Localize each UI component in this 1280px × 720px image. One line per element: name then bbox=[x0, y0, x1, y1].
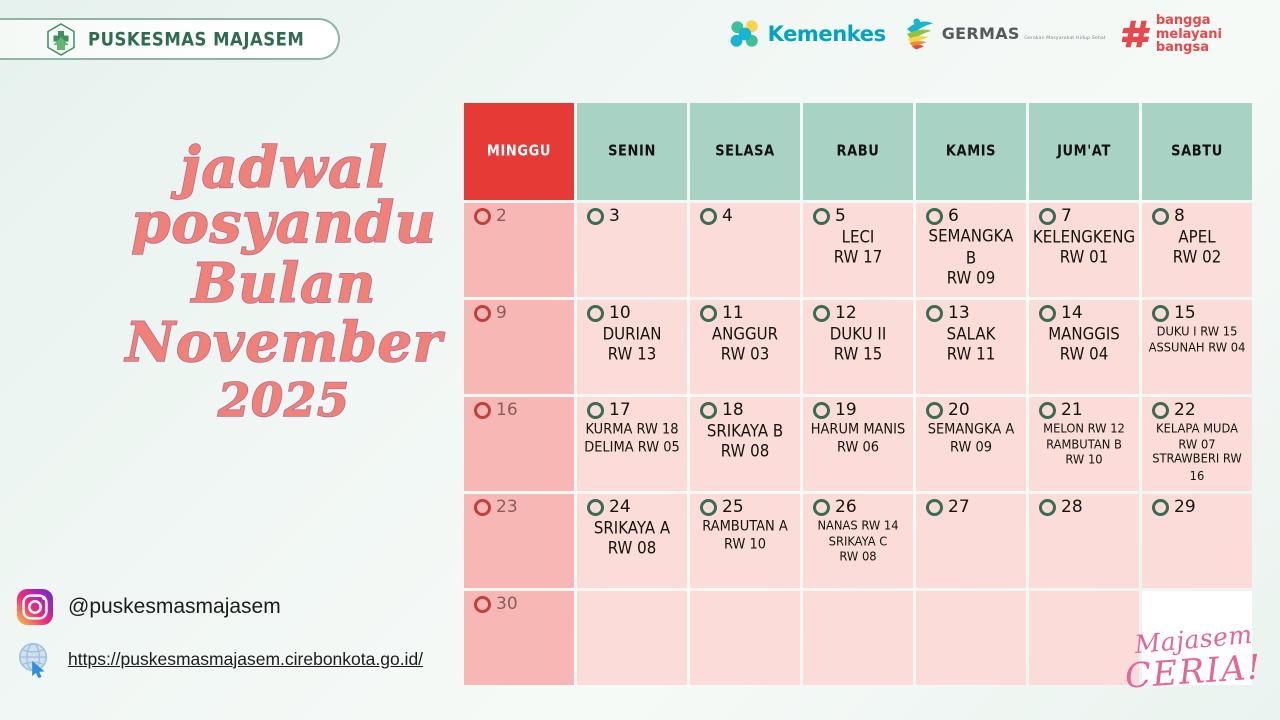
calendar-cell-day-20[interactable]: 20SEMANGKA ARW 09 bbox=[916, 397, 1026, 491]
circle-marker-icon bbox=[813, 305, 830, 322]
circle-marker-icon bbox=[587, 208, 604, 225]
circle-marker-icon bbox=[926, 402, 943, 419]
circle-marker-icon bbox=[700, 208, 717, 225]
day-number: 25 bbox=[722, 499, 744, 516]
day-number-row: 8 bbox=[1152, 208, 1185, 225]
header-brand-bar: PUSKESMAS MAJASEM bbox=[0, 18, 340, 60]
day-number-row: 4 bbox=[700, 208, 733, 225]
calendar-cell-day-28[interactable]: 28 bbox=[1029, 494, 1139, 588]
day-number: 18 bbox=[722, 402, 744, 419]
title-line-2: posyandu bbox=[104, 194, 464, 253]
day-header-kamis: KAMIS bbox=[916, 103, 1026, 200]
event-text: SALAK bbox=[947, 323, 996, 345]
day-number: 9 bbox=[496, 305, 507, 322]
day-header-label: MINGGU bbox=[487, 143, 551, 161]
day-number-row: 11 bbox=[700, 305, 744, 322]
event-text: MELON RW 12 bbox=[1043, 420, 1125, 437]
event-text: RAMBUTAN A bbox=[702, 517, 788, 536]
day-number: 22 bbox=[1174, 402, 1196, 419]
day-number-row: 30 bbox=[474, 596, 518, 613]
calendar-cell-day-7[interactable]: 7KELENGKENGRW 01 bbox=[1029, 203, 1139, 297]
event-text: DUKU I RW 15 bbox=[1157, 323, 1238, 340]
event-text: SRIKAYA B bbox=[707, 420, 783, 442]
calendar-cell-empty[interactable] bbox=[1142, 591, 1252, 685]
event-text: RW 08 bbox=[839, 548, 876, 565]
day-number-row: 17 bbox=[587, 402, 631, 419]
day-number: 23 bbox=[496, 499, 518, 516]
calendar-cell-day-30[interactable]: 30 bbox=[464, 591, 574, 685]
event-text: KELENGKENG bbox=[1033, 226, 1135, 248]
day-number: 3 bbox=[609, 208, 620, 225]
circle-marker-icon bbox=[813, 499, 830, 516]
day-number: 8 bbox=[1174, 208, 1185, 225]
circle-marker-icon bbox=[926, 208, 943, 225]
calendar-cell-day-11[interactable]: 11ANGGURRW 03 bbox=[690, 300, 800, 394]
day-number-row: 26 bbox=[813, 499, 857, 516]
day-number: 11 bbox=[722, 305, 744, 322]
calendar-cell-empty[interactable] bbox=[577, 591, 687, 685]
calendar-cell-day-9[interactable]: 9 bbox=[464, 300, 574, 394]
day-number-row: 7 bbox=[1039, 208, 1072, 225]
day-header-jumat: JUM'AT bbox=[1029, 103, 1139, 200]
event-text: DURIAN bbox=[603, 323, 662, 345]
calendar-cell-day-19[interactable]: 19HARUM MANISRW 06 bbox=[803, 397, 913, 491]
day-number-row: 9 bbox=[474, 305, 507, 322]
calendar-cell-day-22[interactable]: 22KELAPA MUDARW 07STRAWBERI RW 16 bbox=[1142, 397, 1252, 491]
day-number-row: 24 bbox=[587, 499, 631, 516]
event-text: RW 10 bbox=[724, 535, 766, 554]
calendar-cell-day-5[interactable]: 5LECIRW 17 bbox=[803, 203, 913, 297]
kemenkes-wordmark: Kemenkes bbox=[768, 22, 886, 46]
event-text: SEMANGKA B bbox=[922, 225, 1020, 270]
event-text: RW 08 bbox=[721, 440, 770, 462]
day-number: 17 bbox=[609, 402, 631, 419]
circle-marker-icon bbox=[474, 305, 491, 322]
event-text: RW 08 bbox=[608, 537, 657, 559]
calendar-cell-day-4[interactable]: 4 bbox=[690, 203, 800, 297]
germas-wordmark: GERMAS bbox=[942, 24, 1020, 43]
circle-marker-icon bbox=[474, 596, 491, 613]
event-text: APEL bbox=[1178, 226, 1215, 248]
partner-logos: Kemenkes GERMAS Gerakan Masyarakat Hidup… bbox=[728, 14, 1222, 55]
bangga-line-3: bangsa bbox=[1156, 41, 1222, 55]
event-text: RW 06 bbox=[837, 438, 879, 457]
bangga-line-1: bangga bbox=[1156, 14, 1222, 28]
event-text: DUKU II bbox=[830, 323, 887, 345]
day-number: 7 bbox=[1061, 208, 1072, 225]
day-number: 26 bbox=[835, 499, 857, 516]
day-number-row: 25 bbox=[700, 499, 744, 516]
day-header-selasa: SELASA bbox=[690, 103, 800, 200]
day-number: 20 bbox=[948, 402, 970, 419]
footer-contacts: @puskesmasmajasem https://puskesmasmajas… bbox=[16, 588, 466, 692]
calendar-cell-day-15[interactable]: 15DUKU I RW 15ASSUNAH RW 04 bbox=[1142, 300, 1252, 394]
page-title: jadwal posyandu Bulan November 2025 bbox=[104, 140, 464, 426]
calendar-cell-day-8[interactable]: 8APELRW 02 bbox=[1142, 203, 1252, 297]
circle-marker-icon bbox=[1152, 208, 1169, 225]
day-number-row: 2 bbox=[474, 208, 507, 225]
calendar-cell-day-29[interactable]: 29 bbox=[1142, 494, 1252, 588]
brand-label: PUSKESMAS MAJASEM bbox=[88, 28, 304, 49]
event-text: RW 15 bbox=[834, 343, 883, 365]
circle-marker-icon bbox=[1152, 402, 1169, 419]
circle-marker-icon bbox=[474, 208, 491, 225]
day-header-label: KAMIS bbox=[946, 143, 996, 161]
event-text: RW 10 bbox=[1065, 451, 1102, 468]
day-header-label: SENIN bbox=[608, 143, 656, 161]
day-number: 10 bbox=[609, 305, 631, 322]
circle-marker-icon bbox=[474, 499, 491, 516]
day-number-row: 19 bbox=[813, 402, 857, 419]
event-text: RW 02 bbox=[1173, 246, 1222, 268]
calendar-cell-day-25[interactable]: 25RAMBUTAN ARW 10 bbox=[690, 494, 800, 588]
event-text: SEMANGKA A bbox=[928, 420, 1015, 439]
circle-marker-icon bbox=[700, 305, 717, 322]
calendar-cell-empty[interactable] bbox=[916, 591, 1026, 685]
day-number-row: 10 bbox=[587, 305, 631, 322]
hexagon-medical-cross-icon bbox=[46, 23, 76, 56]
day-number-row: 21 bbox=[1039, 402, 1083, 419]
event-text: LECI bbox=[842, 226, 875, 248]
circle-marker-icon bbox=[587, 305, 604, 322]
circle-marker-icon bbox=[813, 208, 830, 225]
circle-marker-icon bbox=[926, 499, 943, 516]
bangga-melayani-bangsa-logo: bangga melayani bangsa bbox=[1122, 14, 1222, 55]
circle-marker-icon bbox=[1039, 208, 1056, 225]
event-text: RW 03 bbox=[721, 343, 770, 365]
event-text: STRAWBERI RW 16 bbox=[1148, 450, 1246, 484]
event-text: KELAPA MUDA bbox=[1156, 420, 1238, 437]
day-number-row: 15 bbox=[1152, 305, 1196, 322]
circle-marker-icon bbox=[813, 402, 830, 419]
calendar-cell-day-14[interactable]: 14MANGGISRW 04 bbox=[1029, 300, 1139, 394]
circle-marker-icon bbox=[1039, 402, 1056, 419]
day-number-row: 3 bbox=[587, 208, 620, 225]
day-number-row: 23 bbox=[474, 499, 518, 516]
day-header-sabtu: SABTU bbox=[1142, 103, 1252, 200]
calendar-cell-day-3[interactable]: 3 bbox=[577, 203, 687, 297]
day-number-row: 18 bbox=[700, 402, 744, 419]
calendar-cell-day-23[interactable]: 23 bbox=[464, 494, 574, 588]
day-number: 24 bbox=[609, 499, 631, 516]
calendar-cell-day-24[interactable]: 24SRIKAYA ARW 08 bbox=[577, 494, 687, 588]
day-number: 12 bbox=[835, 305, 857, 322]
day-number-row: 13 bbox=[926, 305, 970, 322]
day-number-row: 14 bbox=[1039, 305, 1083, 322]
title-line-4: November bbox=[104, 313, 464, 371]
event-text: SRIKAYA A bbox=[594, 517, 670, 539]
circle-marker-icon bbox=[587, 499, 604, 516]
bangga-line-2: melayani bbox=[1156, 28, 1222, 42]
kemenkes-mark-icon bbox=[728, 17, 762, 51]
event-text: MANGGIS bbox=[1048, 323, 1120, 345]
day-header-label: RABU bbox=[837, 143, 880, 161]
day-number-row: 5 bbox=[813, 208, 846, 225]
day-number-row: 22 bbox=[1152, 402, 1196, 419]
circle-marker-icon bbox=[474, 402, 491, 419]
title-line-3: Bulan bbox=[104, 254, 464, 312]
title-line-5: 2025 bbox=[104, 375, 464, 426]
calendar-cell-day-12[interactable]: 12DUKU IIRW 15 bbox=[803, 300, 913, 394]
calendar-grid: MINGGUSENINSELASARABUKAMISJUM'ATSABTU234… bbox=[464, 103, 1252, 675]
event-text: KURMA RW 18 bbox=[586, 420, 679, 439]
calendar-cell-day-13[interactable]: 13SALAKRW 11 bbox=[916, 300, 1026, 394]
germas-tagline: Gerakan Masyarakat Hidup Sehat bbox=[1024, 36, 1106, 41]
calendar-cell-day-10[interactable]: 10DURIANRW 13 bbox=[577, 300, 687, 394]
instagram-row[interactable]: @puskesmasmajasem bbox=[16, 588, 466, 626]
day-header-label: SABTU bbox=[1171, 143, 1223, 161]
calendar-cell-day-27[interactable]: 27 bbox=[916, 494, 1026, 588]
calendar-cell-day-2[interactable]: 2 bbox=[464, 203, 574, 297]
calendar-cell-empty[interactable] bbox=[1029, 591, 1139, 685]
day-number: 21 bbox=[1061, 402, 1083, 419]
event-text: NANAS RW 14 bbox=[817, 517, 898, 534]
day-number: 2 bbox=[496, 208, 507, 225]
day-number: 16 bbox=[496, 402, 518, 419]
day-number-row: 28 bbox=[1039, 499, 1083, 516]
event-text: RW 09 bbox=[947, 266, 996, 288]
day-number-row: 27 bbox=[926, 499, 970, 516]
event-text: RW 09 bbox=[950, 438, 992, 457]
calendar-cell-day-16[interactable]: 16 bbox=[464, 397, 574, 491]
day-number: 27 bbox=[948, 499, 970, 516]
day-number: 29 bbox=[1174, 499, 1196, 516]
event-text: RW 17 bbox=[834, 246, 883, 268]
circle-marker-icon bbox=[1152, 499, 1169, 516]
day-header-label: JUM'AT bbox=[1057, 143, 1111, 161]
calendar-cell-empty[interactable] bbox=[803, 591, 913, 685]
day-number-row: 20 bbox=[926, 402, 970, 419]
event-text: DELIMA RW 05 bbox=[584, 438, 680, 457]
day-number: 15 bbox=[1174, 305, 1196, 322]
germas-logo: GERMAS Gerakan Masyarakat Hidup Sehat bbox=[902, 16, 1106, 52]
event-text: RW 04 bbox=[1060, 343, 1109, 365]
instagram-handle: @puskesmasmajasem bbox=[68, 595, 281, 619]
day-number: 5 bbox=[835, 208, 846, 225]
website-url[interactable]: https://puskesmasmajasem.cirebonkota.go.… bbox=[68, 649, 423, 670]
event-text: RW 13 bbox=[608, 343, 657, 365]
event-text: HARUM MANIS bbox=[811, 420, 906, 439]
calendar-cell-day-21[interactable]: 21MELON RW 12RAMBUTAN BRW 10 bbox=[1029, 397, 1139, 491]
circle-marker-icon bbox=[926, 305, 943, 322]
calendar-cell-day-6[interactable]: 6SEMANGKA BRW 09 bbox=[916, 203, 1026, 297]
day-header-minggu: MINGGU bbox=[464, 103, 574, 200]
day-header-rabu: RABU bbox=[803, 103, 913, 200]
event-text: ASSUNAH RW 04 bbox=[1149, 339, 1246, 356]
kemenkes-logo: Kemenkes bbox=[728, 17, 886, 51]
day-number: 19 bbox=[835, 402, 857, 419]
day-number: 30 bbox=[496, 596, 518, 613]
circle-marker-icon bbox=[700, 499, 717, 516]
day-number-row: 16 bbox=[474, 402, 518, 419]
circle-marker-icon bbox=[587, 402, 604, 419]
day-number: 6 bbox=[948, 208, 959, 225]
circle-marker-icon bbox=[1039, 305, 1056, 322]
day-header-label: SELASA bbox=[715, 143, 775, 161]
circle-marker-icon bbox=[1039, 499, 1056, 516]
globe-cursor-icon bbox=[16, 640, 54, 678]
day-number: 28 bbox=[1061, 499, 1083, 516]
calendar-cell-day-18[interactable]: 18SRIKAYA BRW 08 bbox=[690, 397, 800, 491]
hashtag-icon bbox=[1122, 18, 1152, 50]
day-number: 4 bbox=[722, 208, 733, 225]
circle-marker-icon bbox=[1152, 305, 1169, 322]
day-number: 13 bbox=[948, 305, 970, 322]
day-number-row: 29 bbox=[1152, 499, 1196, 516]
event-text: RW 11 bbox=[947, 343, 996, 365]
calendar-cell-empty[interactable] bbox=[690, 591, 800, 685]
event-text: RW 01 bbox=[1060, 246, 1109, 268]
day-header-senin: SENIN bbox=[577, 103, 687, 200]
instagram-icon bbox=[16, 588, 54, 626]
day-number-row: 6 bbox=[926, 208, 959, 225]
circle-marker-icon bbox=[700, 402, 717, 419]
website-row[interactable]: https://puskesmasmajasem.cirebonkota.go.… bbox=[16, 640, 466, 678]
day-number-row: 12 bbox=[813, 305, 857, 322]
calendar-cell-day-17[interactable]: 17KURMA RW 18DELIMA RW 05 bbox=[577, 397, 687, 491]
event-text: ANGGUR bbox=[712, 323, 778, 345]
germas-mark-icon bbox=[902, 16, 938, 52]
day-number: 14 bbox=[1061, 305, 1083, 322]
calendar-cell-day-26[interactable]: 26NANAS RW 14SRIKAYA CRW 08 bbox=[803, 494, 913, 588]
